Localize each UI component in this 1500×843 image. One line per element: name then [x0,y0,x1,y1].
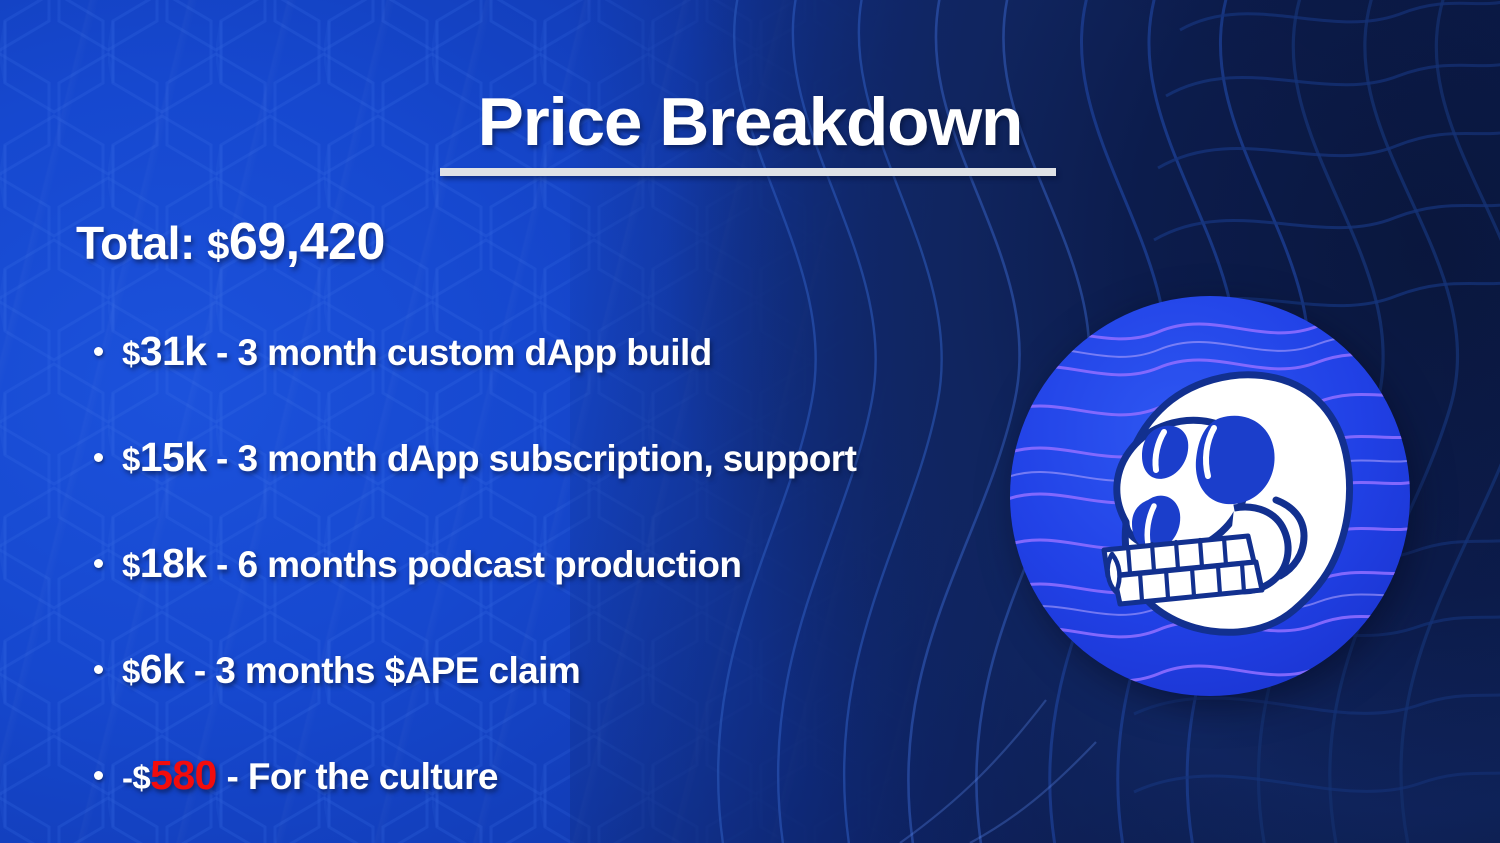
bullet-description: - 3 month custom dApp build [206,332,711,373]
title-underline-rule [440,168,1056,176]
bullet-amount: 31k [140,328,207,374]
bullet-dot-icon [94,347,103,356]
bullet-dollar-sign: $ [122,441,140,478]
list-item: $31k - 3 month custom dApp build [92,325,1092,431]
bullet-amount: 15k [140,434,207,480]
bullet-text: $6k - 3 months $APE claim [122,643,580,698]
bullet-dot-icon [94,665,103,674]
bullet-amount: 18k [140,540,207,586]
total-label: Total: [76,217,195,269]
total-dollar-sign: $ [207,224,229,268]
list-item: $18k - 6 months podcast production [92,537,1092,643]
bullet-description: - 3 month dApp subscription, support [206,438,856,479]
bullet-amount: 6k [140,646,184,692]
bullet-dollar-sign: $ [122,653,140,690]
bullet-dollar-sign: $ [122,335,140,372]
bullet-dot-icon [94,453,103,462]
bullet-description: - 6 months podcast production [206,544,741,585]
bullet-text: $18k - 6 months podcast production [122,537,741,592]
price-breakdown-slide: Price Breakdown Total: $69,420 $31k - 3 … [0,0,1500,843]
total-amount: 69,420 [229,213,385,271]
bullet-text: $15k - 3 month dApp subscription, suppor… [122,431,856,486]
list-item: $6k - 3 months $APE claim [92,643,1092,749]
bullet-dollar-sign: -$ [122,759,150,796]
title-container: Price Breakdown [0,88,1500,156]
list-item: -$580 - For the culture [92,749,1092,843]
bullet-text: $31k - 3 month custom dApp build [122,325,712,380]
apecoin-logo-icon [1008,292,1412,700]
page-title: Price Breakdown [478,88,1022,156]
total-line: Total: $69,420 [76,212,385,272]
bullet-dollar-sign: $ [122,547,140,584]
list-item: $15k - 3 month dApp subscription, suppor… [92,431,1092,537]
bullet-description: - 3 months $APE claim [184,650,580,691]
bullet-amount: 580 [150,752,217,798]
bullet-dot-icon [94,771,103,780]
bullet-text: -$580 - For the culture [122,749,498,804]
bullet-description: - For the culture [217,756,498,797]
bullet-dot-icon [94,559,103,568]
price-bullet-list: $31k - 3 month custom dApp build $15k - … [92,325,1092,843]
